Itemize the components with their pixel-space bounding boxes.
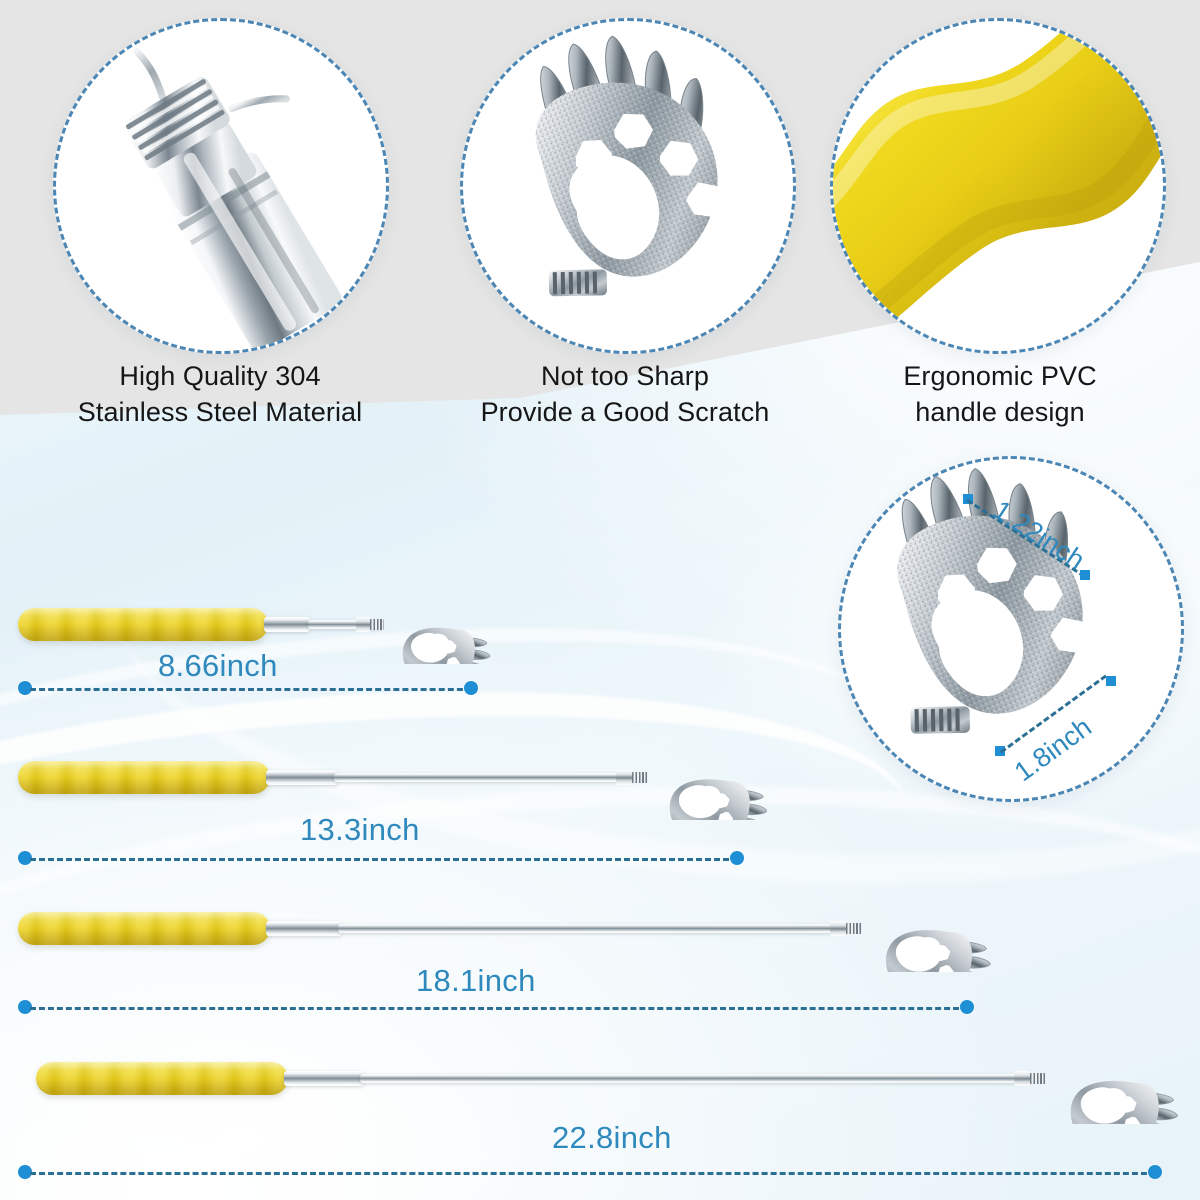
- feature-caption-steel-material: High Quality 304 Stainless Steel Materia…: [60, 358, 380, 430]
- dimension-label-1: 8.66inch: [158, 648, 278, 684]
- dimension-line-2: [30, 858, 738, 861]
- dimension-dot-end-2: [730, 851, 744, 865]
- product-infographic: High Quality 304 Stainless Steel Materia…: [0, 0, 1200, 1200]
- dimension-line-3: [30, 1007, 968, 1010]
- feature-caption-ergonomic-handle: Ergonomic PVC handle design: [845, 358, 1155, 430]
- telescoping-rod-icon: [56, 21, 386, 351]
- handle-grip: [18, 912, 270, 945]
- rod-segment-thick: [264, 617, 310, 632]
- rod-segment-thin: [338, 924, 848, 933]
- scratcher-row-2: [18, 748, 778, 812]
- scratcher-head: [638, 740, 778, 820]
- scratcher-row-4: [18, 1048, 1168, 1116]
- dimension-label-4: 22.8inch: [552, 1120, 672, 1156]
- handle-grip: [18, 761, 270, 794]
- feature-circle-steel-material: [53, 18, 389, 354]
- scratcher-head: [1036, 1038, 1186, 1124]
- dimension-line-4: [30, 1172, 1156, 1175]
- dimension-line-1: [30, 688, 472, 691]
- rod-segment-thin: [360, 1074, 1032, 1083]
- handle-grip: [36, 1062, 288, 1095]
- scratcher-head: [852, 888, 1002, 972]
- feature-caption-not-too-sharp: Not too Sharp Provide a Good Scratch: [460, 358, 790, 430]
- dimension-dot-end-4: [1148, 1165, 1162, 1179]
- rod-segment-thick: [284, 1071, 364, 1086]
- rod-segment-thick: [266, 770, 338, 785]
- scratcher-head: [374, 592, 504, 664]
- rod-segment-thin: [334, 773, 634, 782]
- dimension-label-2: 13.3inch: [300, 812, 420, 848]
- rod-collar: [356, 617, 370, 632]
- yellow-pvc-handle-icon: [833, 21, 1163, 351]
- bear-paw-scratcher-head-icon: [463, 21, 793, 351]
- width-callout-end-marker: [1080, 570, 1090, 580]
- dimension-dot-end-1: [464, 681, 478, 695]
- rod-collar: [616, 770, 632, 785]
- length-callout-end-marker: [1106, 676, 1116, 686]
- rod-segment-thick: [266, 921, 342, 936]
- rod-collar: [1014, 1071, 1030, 1086]
- feature-circle-ergonomic-handle: [830, 18, 1166, 354]
- scratcher-row-3: [18, 898, 1008, 964]
- dimension-label-3: 18.1inch: [416, 963, 536, 999]
- rod-collar: [830, 921, 846, 936]
- handle-grip: [18, 608, 268, 641]
- feature-circle-not-too-sharp: [460, 18, 796, 354]
- dimension-dot-end-3: [960, 1000, 974, 1014]
